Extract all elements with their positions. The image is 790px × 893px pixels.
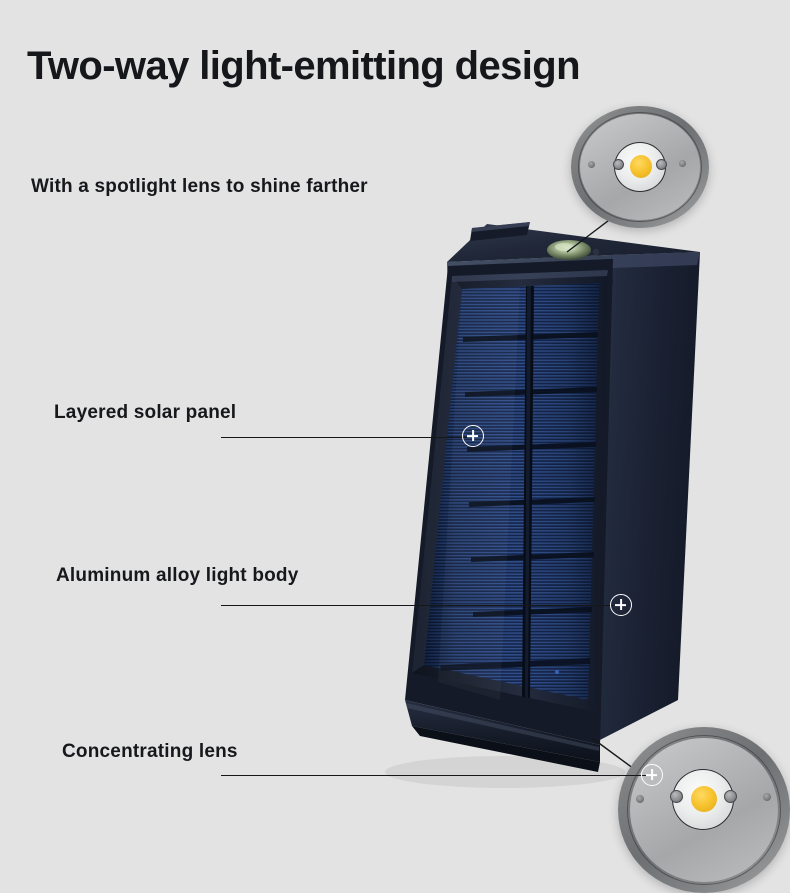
leader-line-solar-panel	[221, 437, 467, 438]
led-chip	[630, 155, 652, 178]
detail-view-concentrating-lens	[618, 727, 790, 893]
lens-rim-notch	[588, 161, 595, 168]
lens-screw	[724, 790, 737, 803]
callout-label-light-body: Aluminum alloy light body	[56, 565, 299, 587]
lens-rim-notch	[636, 795, 644, 803]
led-chip	[691, 786, 717, 812]
callout-label-concentrating-lens: Concentrating lens	[62, 741, 238, 763]
lens-screw	[613, 159, 624, 170]
crosshair-marker-light-body	[610, 594, 632, 616]
lens-screw	[656, 159, 667, 170]
device-right-wall	[596, 252, 700, 742]
infographic-poster: Two-way light-emitting design With a spo…	[0, 0, 790, 893]
detail-view-spotlight-lens	[571, 106, 709, 228]
callout-label-solar-panel: Layered solar panel	[54, 402, 236, 424]
crosshair-marker-concentrating-lens	[641, 764, 663, 786]
lens-screw	[670, 790, 683, 803]
leader-line-light-body	[221, 605, 613, 606]
leader-line-concentrating-lens	[221, 775, 646, 776]
crosshair-marker-solar-panel	[462, 425, 484, 447]
lens-rim-notch	[679, 160, 686, 167]
lens-rim-notch	[763, 793, 771, 801]
page-title: Two-way light-emitting design	[27, 44, 580, 89]
callout-label-spotlight: With a spotlight lens to shine farther	[31, 176, 368, 198]
